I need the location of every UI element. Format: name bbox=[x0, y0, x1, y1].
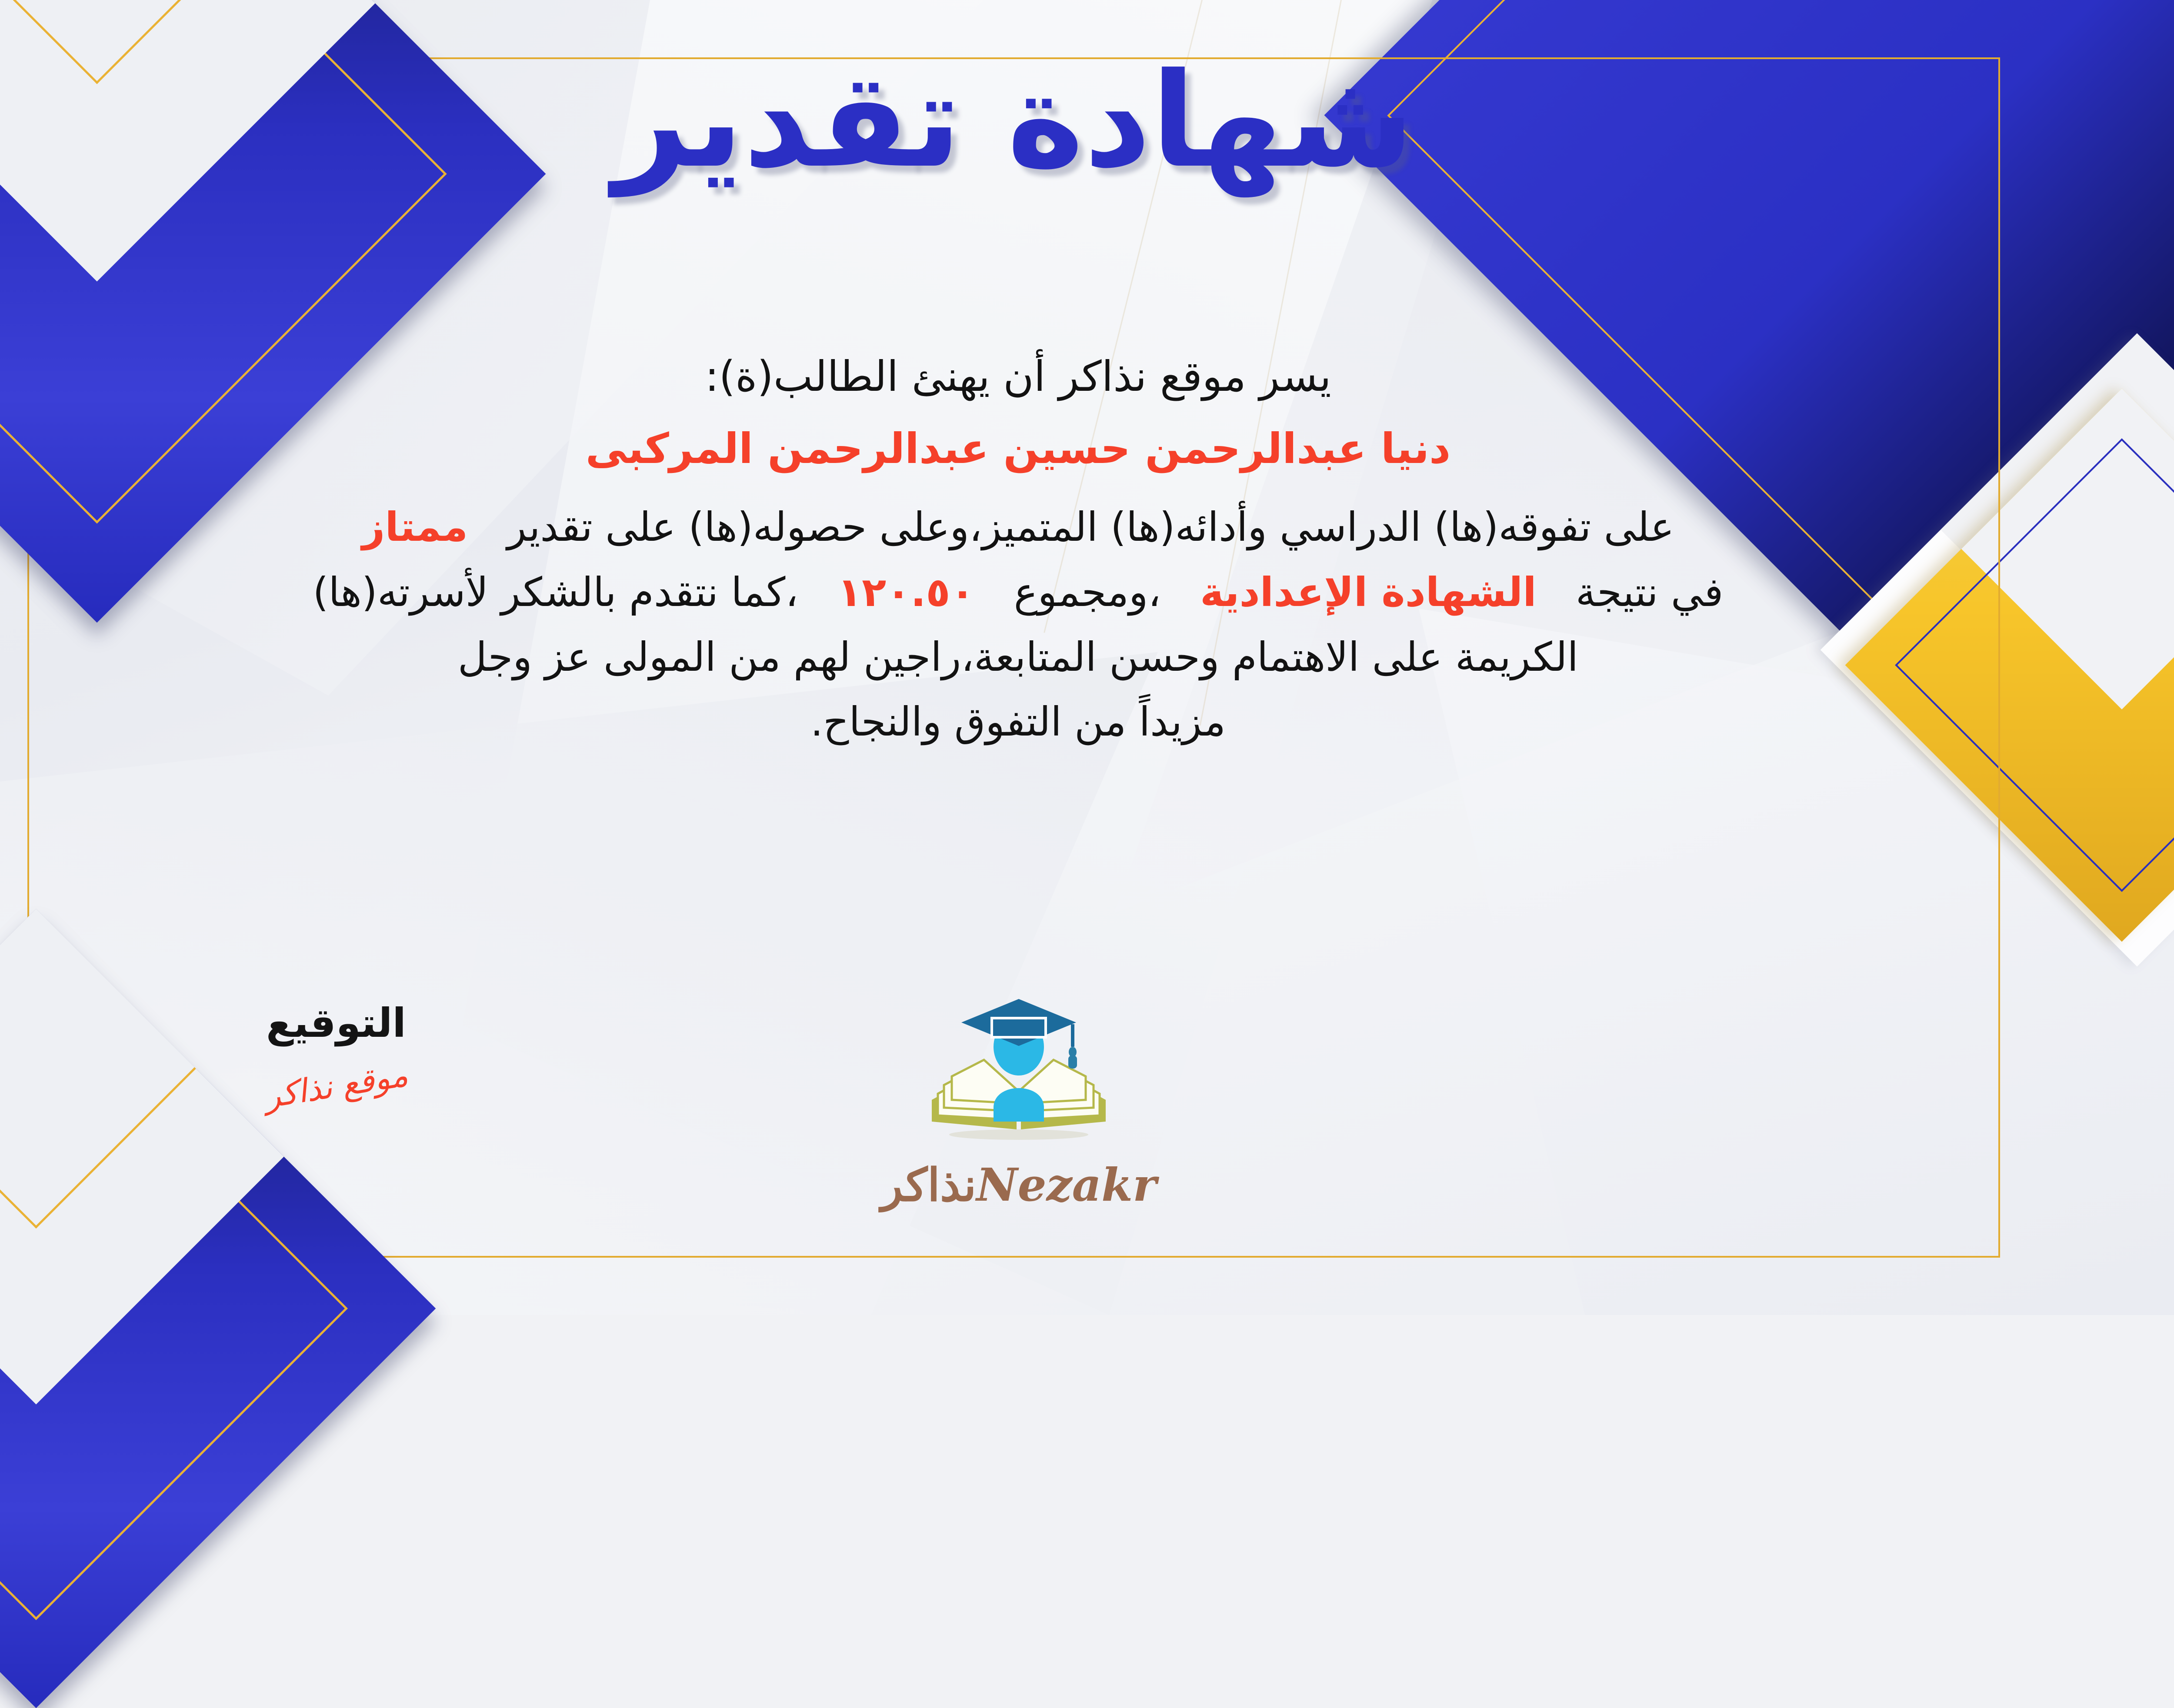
body-paragraph: على تفوقه(ها) الدراسي وأدائه(ها) المتميز… bbox=[36, 495, 2000, 754]
total-score: ١٢٠.٥٠ bbox=[837, 569, 975, 616]
certificate-title: شهادة تقدير bbox=[0, 52, 2174, 189]
student-name: دنيا عبدالرحمن حسين عبدالرحمن المركبى bbox=[36, 424, 2000, 473]
body-part-5: الكريمة على الاهتمام وحسن المتابعة،راجين… bbox=[458, 634, 1578, 680]
logo-wordmark: Nezakrنذاكر bbox=[854, 1158, 1184, 1212]
body-part-6: مزيداً من التفوق والنجاح. bbox=[810, 699, 1226, 745]
grade-value: ممتاز bbox=[362, 504, 468, 550]
signature-label: التوقيع bbox=[184, 1000, 488, 1046]
certificate-body: يسر موقع نذاكر أن يهنئ الطالب(ة): دنيا ع… bbox=[36, 348, 2000, 754]
signature-handwriting: موقع نذاكر bbox=[262, 1056, 410, 1116]
logo-name-arabic: نذاكر bbox=[881, 1158, 976, 1212]
site-logo: Nezakrنذاكر bbox=[854, 991, 1184, 1212]
body-part-2: في نتيجة bbox=[1576, 569, 1724, 616]
intro-line: يسر موقع نذاكر أن يهنئ الطالب(ة): bbox=[36, 348, 2000, 405]
body-part-1: على تفوقه(ها) الدراسي وأدائه(ها) المتميز… bbox=[507, 504, 1674, 550]
body-part-4: ،كما نتقدم بالشكر لأسرته(ها) bbox=[313, 569, 798, 616]
body-part-3: ،ومجموع bbox=[1014, 569, 1161, 616]
exam-name: الشهادة الإعدادية bbox=[1200, 569, 1537, 616]
signature-block: التوقيع موقع نذاكر bbox=[184, 1000, 488, 1105]
logo-name-latin: Nezakr bbox=[976, 1158, 1157, 1212]
graduate-book-icon bbox=[923, 991, 1114, 1156]
